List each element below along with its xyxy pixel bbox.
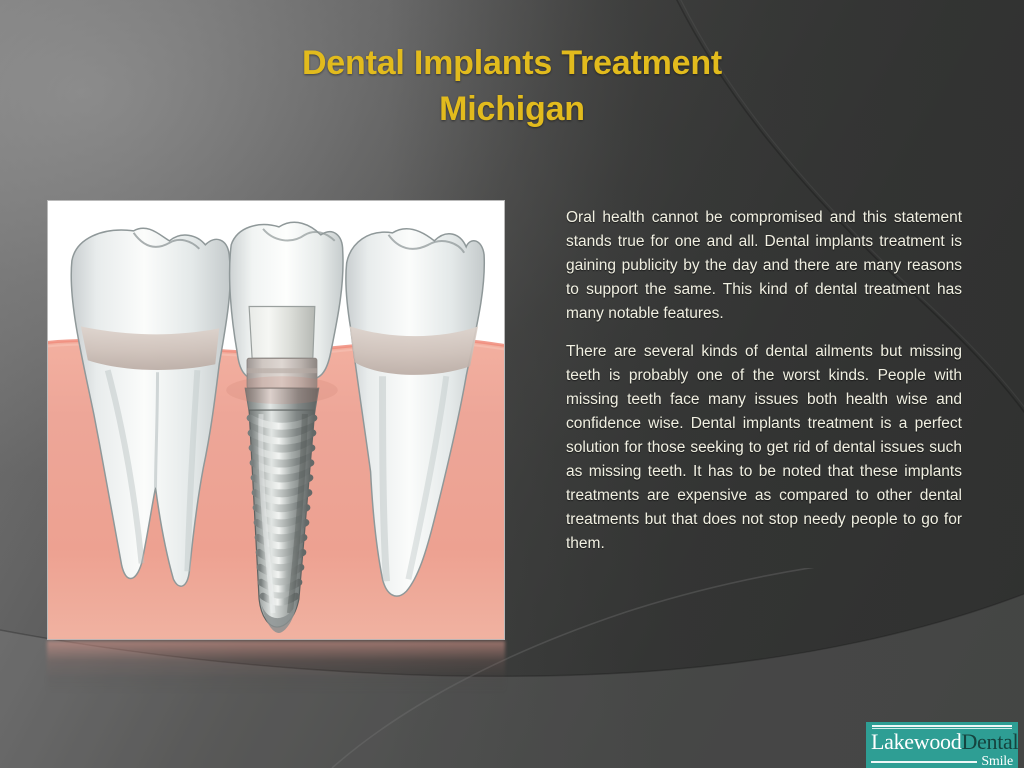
logo-top-rule-thin (872, 728, 1012, 729)
slide-title: Dental Implants Treatment Michigan (140, 40, 884, 132)
dental-implant-figure (47, 200, 505, 640)
logo-bottom-row: Smile (871, 754, 1013, 768)
logo-bottom-rule (871, 761, 977, 763)
logo-top-rule (872, 725, 1012, 727)
logo-word-smile: Smile (981, 754, 1013, 768)
lakewood-dental-smile-logo[interactable]: Lakewood Dental Smile (866, 722, 1018, 768)
dental-implant-illustration-svg (48, 201, 504, 639)
logo-wordmark: Lakewood Dental (871, 731, 1013, 753)
logo-word-lakewood: Lakewood (871, 731, 961, 753)
figure-reflection (47, 641, 505, 693)
slide-canvas: Dental Implants Treatment Michigan (0, 0, 1024, 768)
logo-word-dental: Dental (961, 731, 1018, 753)
paragraph-1: Oral health cannot be compromised and th… (566, 206, 962, 326)
figure-frame (47, 200, 505, 640)
paragraph-2: There are several kinds of dental ailmen… (566, 340, 962, 556)
body-text-block: Oral health cannot be compromised and th… (566, 206, 962, 556)
